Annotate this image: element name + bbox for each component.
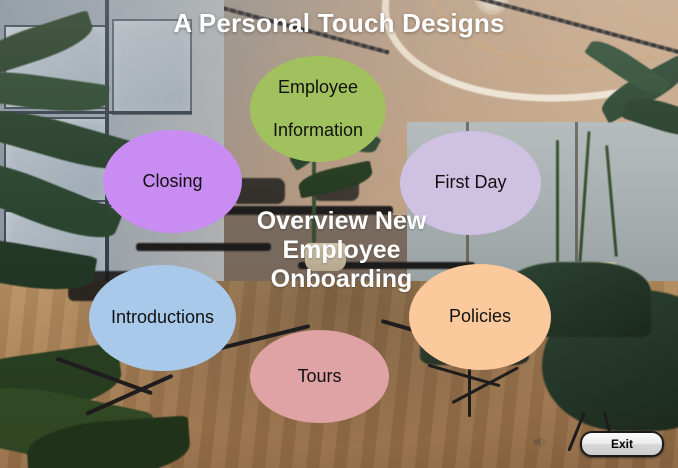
center-headline: Overview New Employee Onboarding bbox=[239, 207, 444, 294]
center-headline-line: Employee bbox=[239, 236, 444, 265]
presentation-slide: A Personal Touch Designs Employee Inform… bbox=[0, 0, 678, 468]
bubble-closing[interactable]: Closing bbox=[103, 130, 242, 233]
center-headline-line: Overview New bbox=[239, 207, 444, 236]
bubble-label: Policies bbox=[441, 306, 519, 328]
bubble-introductions[interactable]: Introductions bbox=[89, 265, 236, 371]
bubble-label: Introductions bbox=[103, 307, 222, 329]
bubble-label-line: Information bbox=[265, 120, 371, 142]
speaker-icon[interactable] bbox=[532, 434, 550, 450]
bubble-label: Employee Information bbox=[257, 77, 379, 142]
bubble-label: First Day bbox=[427, 172, 515, 194]
bubble-label: Closing bbox=[134, 171, 210, 193]
center-headline-line: Onboarding bbox=[239, 265, 444, 294]
page-title: A Personal Touch Designs bbox=[0, 8, 678, 39]
bubble-tours[interactable]: Tours bbox=[250, 330, 389, 423]
exit-button[interactable]: Exit bbox=[580, 431, 664, 457]
bubble-employee-information[interactable]: Employee Information bbox=[250, 56, 386, 162]
bubble-label: Tours bbox=[289, 366, 349, 388]
bubble-label-line: Employee bbox=[265, 77, 371, 99]
